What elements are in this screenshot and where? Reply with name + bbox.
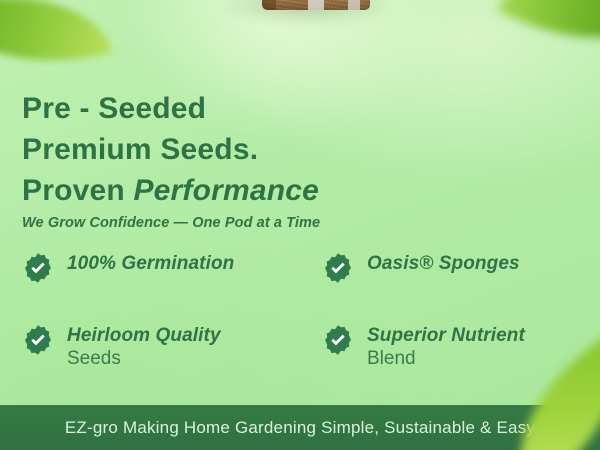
headline-line-3-accent: Performance <box>133 174 319 207</box>
feature-text: Heirloom Quality Seeds <box>67 323 221 370</box>
leaf-icon-top-left <box>0 0 112 89</box>
product-band-left <box>308 0 324 10</box>
feature-label-primary: Heirloom Quality <box>67 324 221 347</box>
feature-text: Superior Nutrient Blend <box>367 323 525 370</box>
feature-list: 100% Germination Oasis® Sponges <box>22 251 578 395</box>
product-band-right <box>348 0 360 10</box>
headline-block: Pre - Seeded Premium Seeds. Proven Perfo… <box>22 88 320 231</box>
footer-bar: EZ-gro Making Home Gardening Simple, Sus… <box>0 405 600 450</box>
feature-text: Oasis® Sponges <box>367 251 520 275</box>
check-badge-icon <box>322 324 354 356</box>
feature-item-superior-nutrient-blend: Superior Nutrient Blend <box>322 323 578 395</box>
feature-item-germination: 100% Germination <box>22 251 322 323</box>
feature-item-heirloom-quality-seeds: Heirloom Quality Seeds <box>22 323 322 395</box>
leaf-icon-top-right <box>497 0 600 80</box>
headline-subtitle: We Grow Confidence — One Pod at a Time <box>22 215 320 231</box>
product-left-shade <box>262 0 276 10</box>
check-badge-icon <box>322 252 354 284</box>
coir-seed-block-image <box>262 0 370 16</box>
feature-item-oasis-sponges: Oasis® Sponges <box>322 251 578 323</box>
promo-banner: Pre - Seeded Premium Seeds. Proven Perfo… <box>0 0 600 450</box>
headline-line-2: Premium Seeds. <box>22 129 320 170</box>
headline-line-3-plain: Proven <box>22 174 133 207</box>
feature-text: 100% Germination <box>67 251 234 275</box>
feature-label-secondary: Seeds <box>67 348 221 370</box>
footer-tagline: EZ-gro Making Home Gardening Simple, Sus… <box>65 418 535 438</box>
headline-line-1: Pre - Seeded <box>22 88 320 129</box>
feature-label-secondary: Blend <box>367 348 525 370</box>
check-badge-icon <box>22 324 54 356</box>
feature-label-primary: Oasis® Sponges <box>367 252 520 275</box>
headline-line-3: Proven Performance <box>22 170 320 211</box>
check-badge-icon <box>22 252 54 284</box>
feature-label-primary: Superior Nutrient <box>367 324 525 347</box>
feature-label-primary: 100% Germination <box>67 252 234 275</box>
